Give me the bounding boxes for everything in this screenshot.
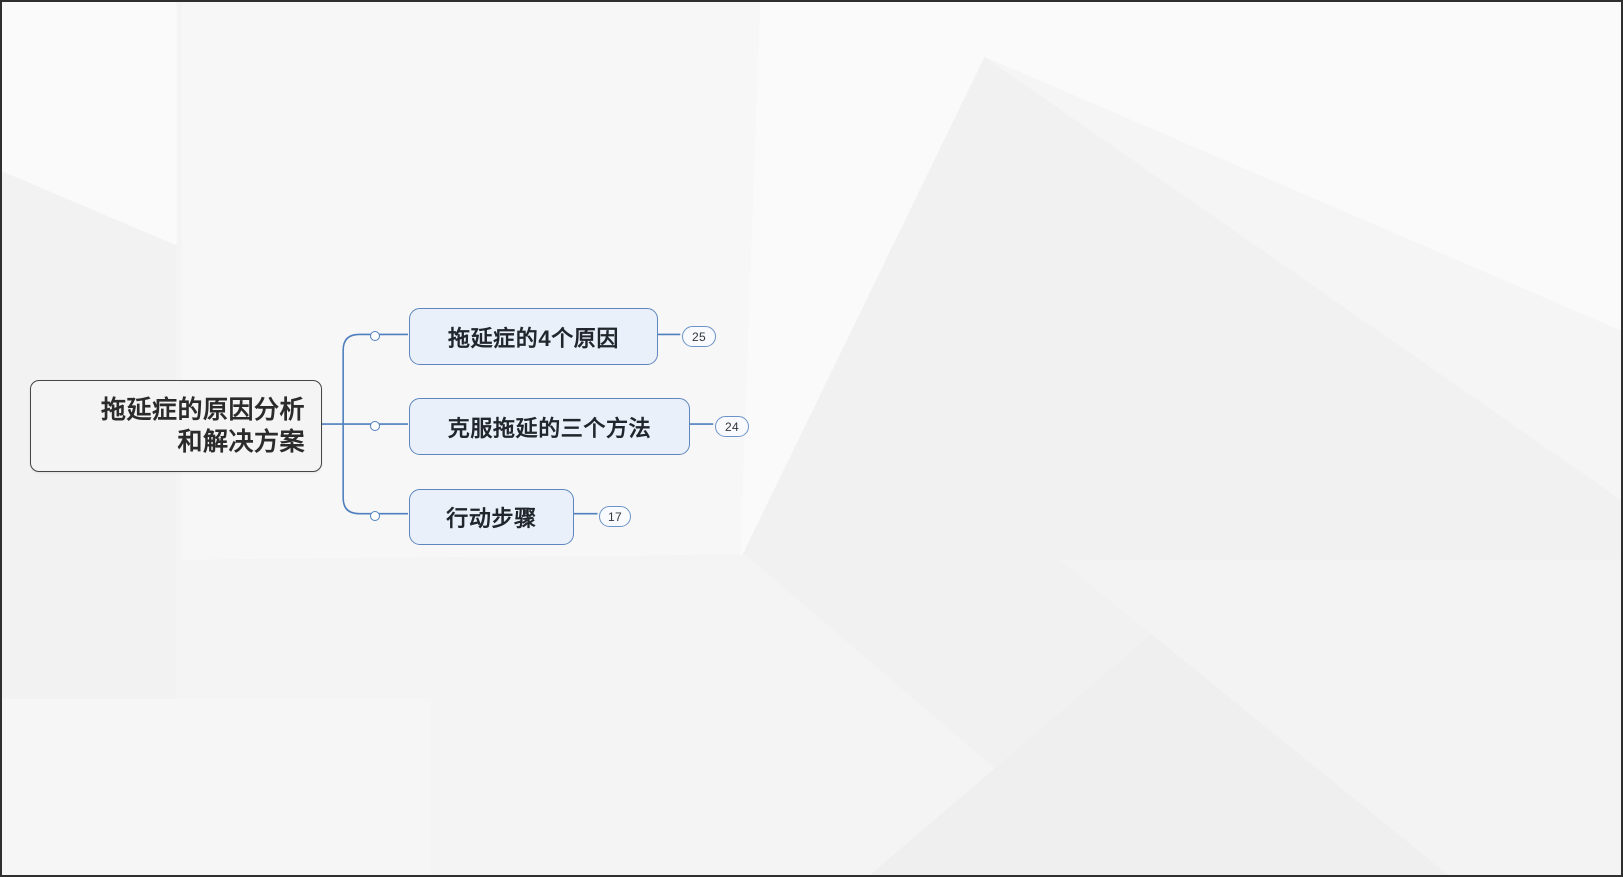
branch-toggle-dot-3[interactable] bbox=[370, 511, 380, 521]
branch-node-1-label: 拖延症的4个原因 bbox=[448, 321, 619, 353]
branch-node-3-count-badge[interactable]: 17 bbox=[599, 506, 631, 527]
branch-node-3[interactable]: 行动步骤 bbox=[409, 489, 574, 545]
branch-node-3-label: 行动步骤 bbox=[446, 501, 536, 533]
root-node-label: 拖延症的原因分析 和解决方案 bbox=[31, 394, 321, 458]
branch-node-2-count-value: 24 bbox=[725, 420, 739, 434]
branch-node-1-count-badge[interactable]: 25 bbox=[682, 326, 716, 347]
branch-toggle-dot-1[interactable] bbox=[370, 331, 380, 341]
branch-node-2[interactable]: 克服拖延的三个方法 bbox=[409, 398, 690, 455]
branch-toggle-dot-2[interactable] bbox=[370, 421, 380, 431]
mindmap-canvas[interactable]: 拖延症的原因分析 和解决方案 拖延症的4个原因 25 克服拖延的三个方法 24 … bbox=[0, 0, 1623, 877]
root-node[interactable]: 拖延症的原因分析 和解决方案 bbox=[30, 380, 322, 472]
branch-node-1-count-value: 25 bbox=[692, 330, 706, 344]
branch-node-2-label: 克服拖延的三个方法 bbox=[448, 411, 651, 443]
branch-node-2-count-badge[interactable]: 24 bbox=[715, 416, 749, 437]
branch-node-3-count-value: 17 bbox=[608, 510, 622, 524]
branch-node-1[interactable]: 拖延症的4个原因 bbox=[409, 308, 658, 365]
